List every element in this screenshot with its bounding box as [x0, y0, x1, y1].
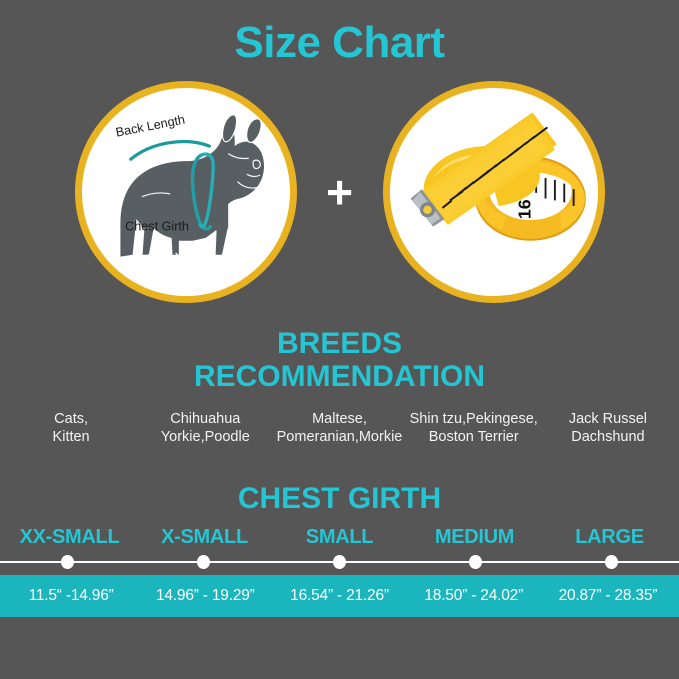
size-label-medium: MEDIUM: [407, 526, 542, 549]
size-labels-row: XX-SMALL X-SMALL SMALL MEDIUM LARGE: [0, 526, 679, 549]
breed-cell-small: Maltese, Pomeranian,Morkie: [272, 410, 406, 446]
breeds-heading-line1: BREEDS: [0, 327, 679, 361]
breeds-row: Cats, Kitten Chihuahua Yorkie,Poodle Mal…: [0, 410, 679, 446]
size-timeline: [0, 553, 679, 571]
timeline-dot-icon: [333, 555, 346, 569]
timeline-dot-wrap-medium: [407, 553, 543, 571]
measurement-xx-small: 11.5“ -14.96”: [4, 587, 138, 605]
timeline-dot-wrap-xx-small: [0, 553, 136, 571]
breeds-heading: BREEDS RECOMMENDATION: [0, 327, 679, 394]
timeline-dot-wrap-x-small: [136, 553, 272, 571]
measurement-large: 20.87” - 28.35”: [541, 587, 675, 605]
measurement-small: 16.54” - 21.26”: [272, 587, 406, 605]
chest-girth-heading: CHEST GIRTH: [0, 482, 679, 516]
dog-measurement-circle: Back Length Chest Girth: [75, 81, 297, 303]
timeline-dot-wrap-large: [543, 553, 679, 571]
timeline-dot-icon: [197, 555, 210, 569]
size-label-large: LARGE: [542, 526, 677, 549]
breed-cell-xx-small: Cats, Kitten: [4, 410, 138, 446]
timeline-dot-icon: [605, 555, 618, 569]
measurement-x-small: 14.96” - 19.29”: [138, 587, 272, 605]
tape-measure-circle: 16: [383, 81, 605, 303]
breeds-heading-line2: RECOMMENDATION: [0, 360, 679, 394]
size-label-x-small: X-SMALL: [137, 526, 272, 549]
tape-marking-16: 16: [514, 199, 534, 219]
breed-cell-large: Jack Russel Dachshund: [541, 410, 675, 446]
timeline-dot-icon: [61, 555, 74, 569]
illustration-row: Back Length Chest Girth + 16: [0, 81, 679, 303]
measurements-bar: 11.5“ -14.96” 14.96” - 19.29” 16.54” - 2…: [0, 575, 679, 617]
page-title: Size Chart: [0, 0, 679, 69]
breed-cell-medium: Shin tzu,Pekingese, Boston Terrier: [407, 410, 541, 446]
back-length-label: Back Length: [114, 112, 186, 139]
size-label-small: SMALL: [272, 526, 407, 549]
chest-girth-label: Chest Girth: [125, 219, 189, 233]
size-label-xx-small: XX-SMALL: [2, 526, 137, 549]
timeline-dot-wrap-small: [272, 553, 408, 571]
timeline-dot-icon: [469, 555, 482, 569]
timeline-dots: [0, 553, 679, 571]
breed-cell-x-small: Chihuahua Yorkie,Poodle: [138, 410, 272, 446]
plus-icon: +: [323, 169, 357, 215]
measurement-medium: 18.50” - 24.02”: [407, 587, 541, 605]
